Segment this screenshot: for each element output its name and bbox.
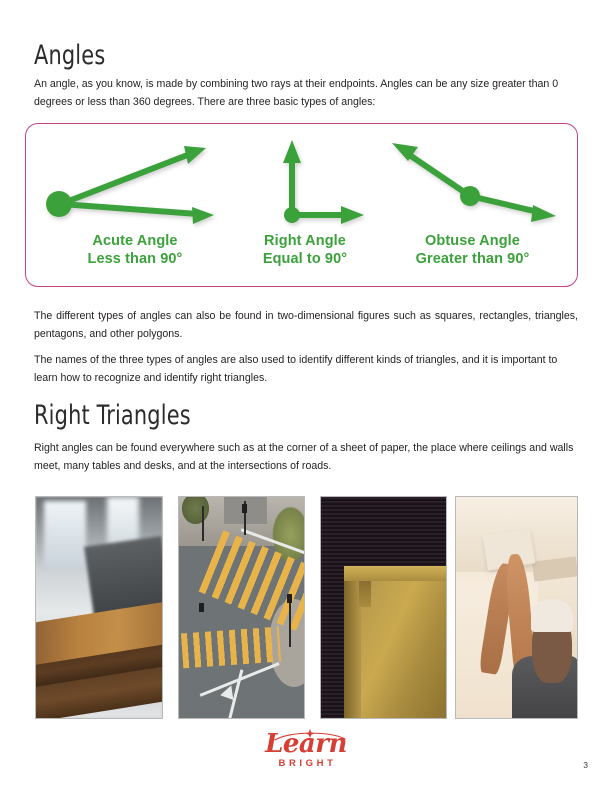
photo-row	[35, 496, 578, 719]
right-angle-icon	[240, 130, 370, 234]
obtuse-angle-label-line1: Obtuse Angle	[425, 233, 520, 249]
photo-drywall-image	[456, 497, 577, 718]
logo-star-swoosh-icon	[273, 729, 347, 741]
acute-angle-label-line2: Less than 90°	[30, 250, 240, 268]
right-angle-figure: Right Angle Equal to 90°	[240, 124, 370, 286]
right-angle-label-line1: Right Angle	[264, 233, 346, 249]
photo-gold-panel-image	[321, 497, 446, 718]
obtuse-angle-icon	[370, 130, 575, 234]
obtuse-angle-label-line2: Greater than 90°	[370, 250, 575, 268]
section-title-right-triangles: Right Triangles	[34, 400, 191, 431]
paragraph-triangle-names: The names of the three types of angles a…	[34, 352, 578, 387]
photo-crosswalk-image	[179, 497, 304, 718]
photo-drywall	[455, 496, 578, 719]
intro-paragraph: An angle, as you know, is made by combin…	[34, 76, 578, 111]
acute-angle-figure: Acute Angle Less than 90°	[30, 124, 240, 286]
paragraph-right-angles-everywhere: Right angles can be found everywhere suc…	[34, 440, 578, 475]
page-title-angles: Angles	[34, 40, 105, 71]
photo-table-corner	[35, 496, 163, 719]
photo-gold-panel	[320, 496, 447, 719]
page-canvas: Angles An angle, as you know, is made by…	[0, 0, 612, 792]
right-angle-label: Right Angle Equal to 90°	[240, 232, 370, 268]
acute-angle-label: Acute Angle Less than 90°	[30, 232, 240, 268]
obtuse-angle-figure: Obtuse Angle Greater than 90°	[370, 124, 575, 286]
angles-diagram-box: Acute Angle Less than 90°	[25, 123, 578, 287]
right-angle-label-line2: Equal to 90°	[240, 250, 370, 268]
obtuse-angle-label: Obtuse Angle Greater than 90°	[370, 232, 575, 268]
logo-bright-text: BRIGHT	[0, 758, 612, 769]
photo-table-corner-image	[36, 497, 162, 718]
photo-crosswalk	[178, 496, 305, 719]
footer-logo: Learn BRIGHT	[0, 731, 612, 775]
page-number: 3	[583, 760, 588, 770]
acute-angle-icon	[30, 130, 240, 234]
acute-angle-label-line1: Acute Angle	[92, 233, 177, 249]
paragraph-two-dimensional-figures: The different types of angles can also b…	[34, 308, 578, 343]
